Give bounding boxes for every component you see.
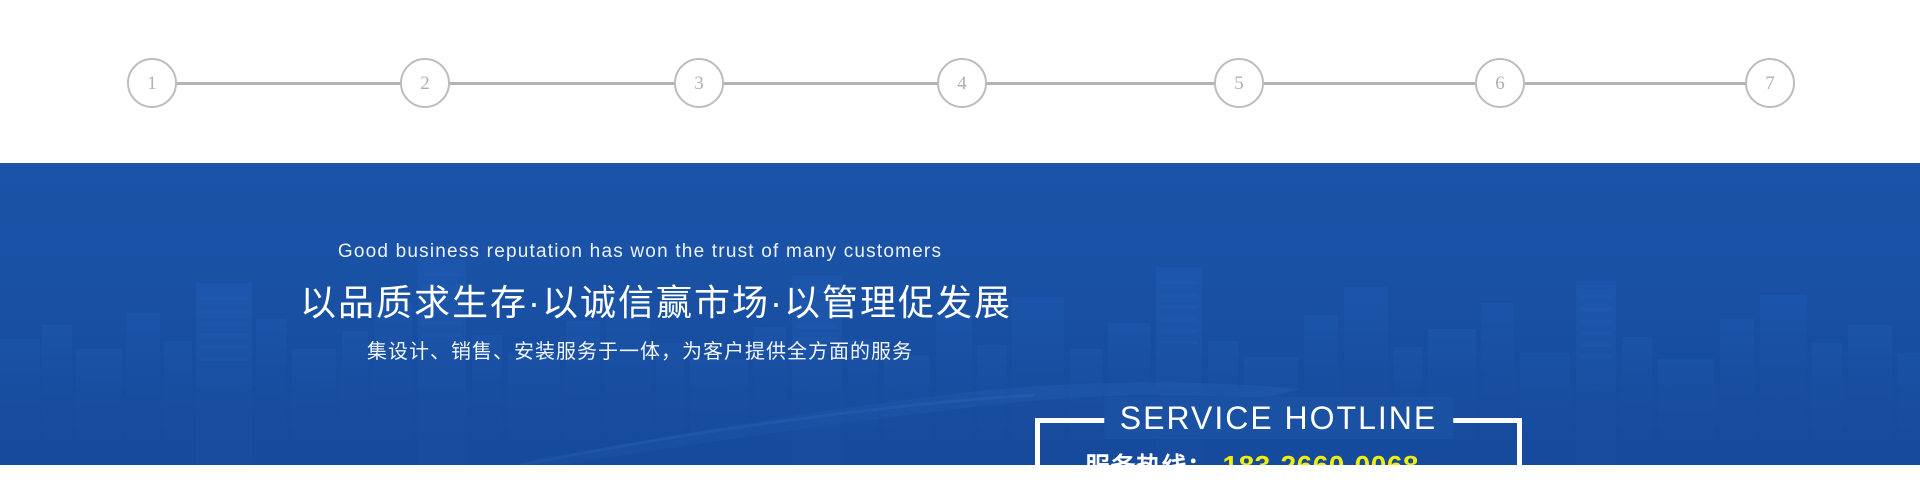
step-node-3[interactable]: 3 [674, 58, 724, 108]
step-label-2: 2 [420, 74, 430, 93]
hotline-row-primary: 服务热线： 183-2660-0068 [1085, 448, 1522, 465]
progress-stepper: 1 2 3 4 5 6 7 [152, 58, 1770, 108]
hotline-label: 服务热线： [1085, 451, 1213, 465]
step-label-6: 6 [1495, 74, 1505, 93]
slogan-english: Good business reputation has won the tru… [300, 241, 980, 264]
step-label-5: 5 [1234, 74, 1244, 93]
hotline-title: SERVICE HOTLINE [1104, 397, 1453, 439]
slogan-subtitle: 集设计、销售、安装服务于一体，为客户提供全方面的服务 [300, 339, 980, 365]
hotline-number-primary[interactable]: 183-2660-0068 [1223, 448, 1419, 465]
step-node-6[interactable]: 6 [1475, 58, 1525, 108]
hotline-banner: Good business reputation has won the tru… [0, 163, 1920, 465]
step-label-3: 3 [694, 74, 704, 93]
slogan-headline: 以品质求生存·以诚信赢市场·以管理促发展 [300, 280, 980, 325]
step-label-7: 7 [1765, 74, 1775, 93]
step-label-4: 4 [957, 74, 967, 93]
step-node-4[interactable]: 4 [937, 58, 987, 108]
step-node-1[interactable]: 1 [127, 58, 177, 108]
page-root: 1 2 3 4 5 6 7 [0, 0, 1920, 500]
step-label-1: 1 [147, 74, 157, 93]
step-node-2[interactable]: 2 [400, 58, 450, 108]
step-node-7[interactable]: 7 [1745, 58, 1795, 108]
hotline-box: SERVICE HOTLINE 服务热线： 183-2660-0068 0551… [1035, 418, 1522, 465]
stepper-strip: 1 2 3 4 5 6 7 [0, 0, 1920, 163]
hotline-numbers: 服务热线： 183-2660-0068 0551-63749777 [1035, 448, 1522, 465]
slogan-block: Good business reputation has won the tru… [300, 241, 980, 365]
step-node-5[interactable]: 5 [1214, 58, 1264, 108]
footer-white-strip [0, 465, 1920, 500]
